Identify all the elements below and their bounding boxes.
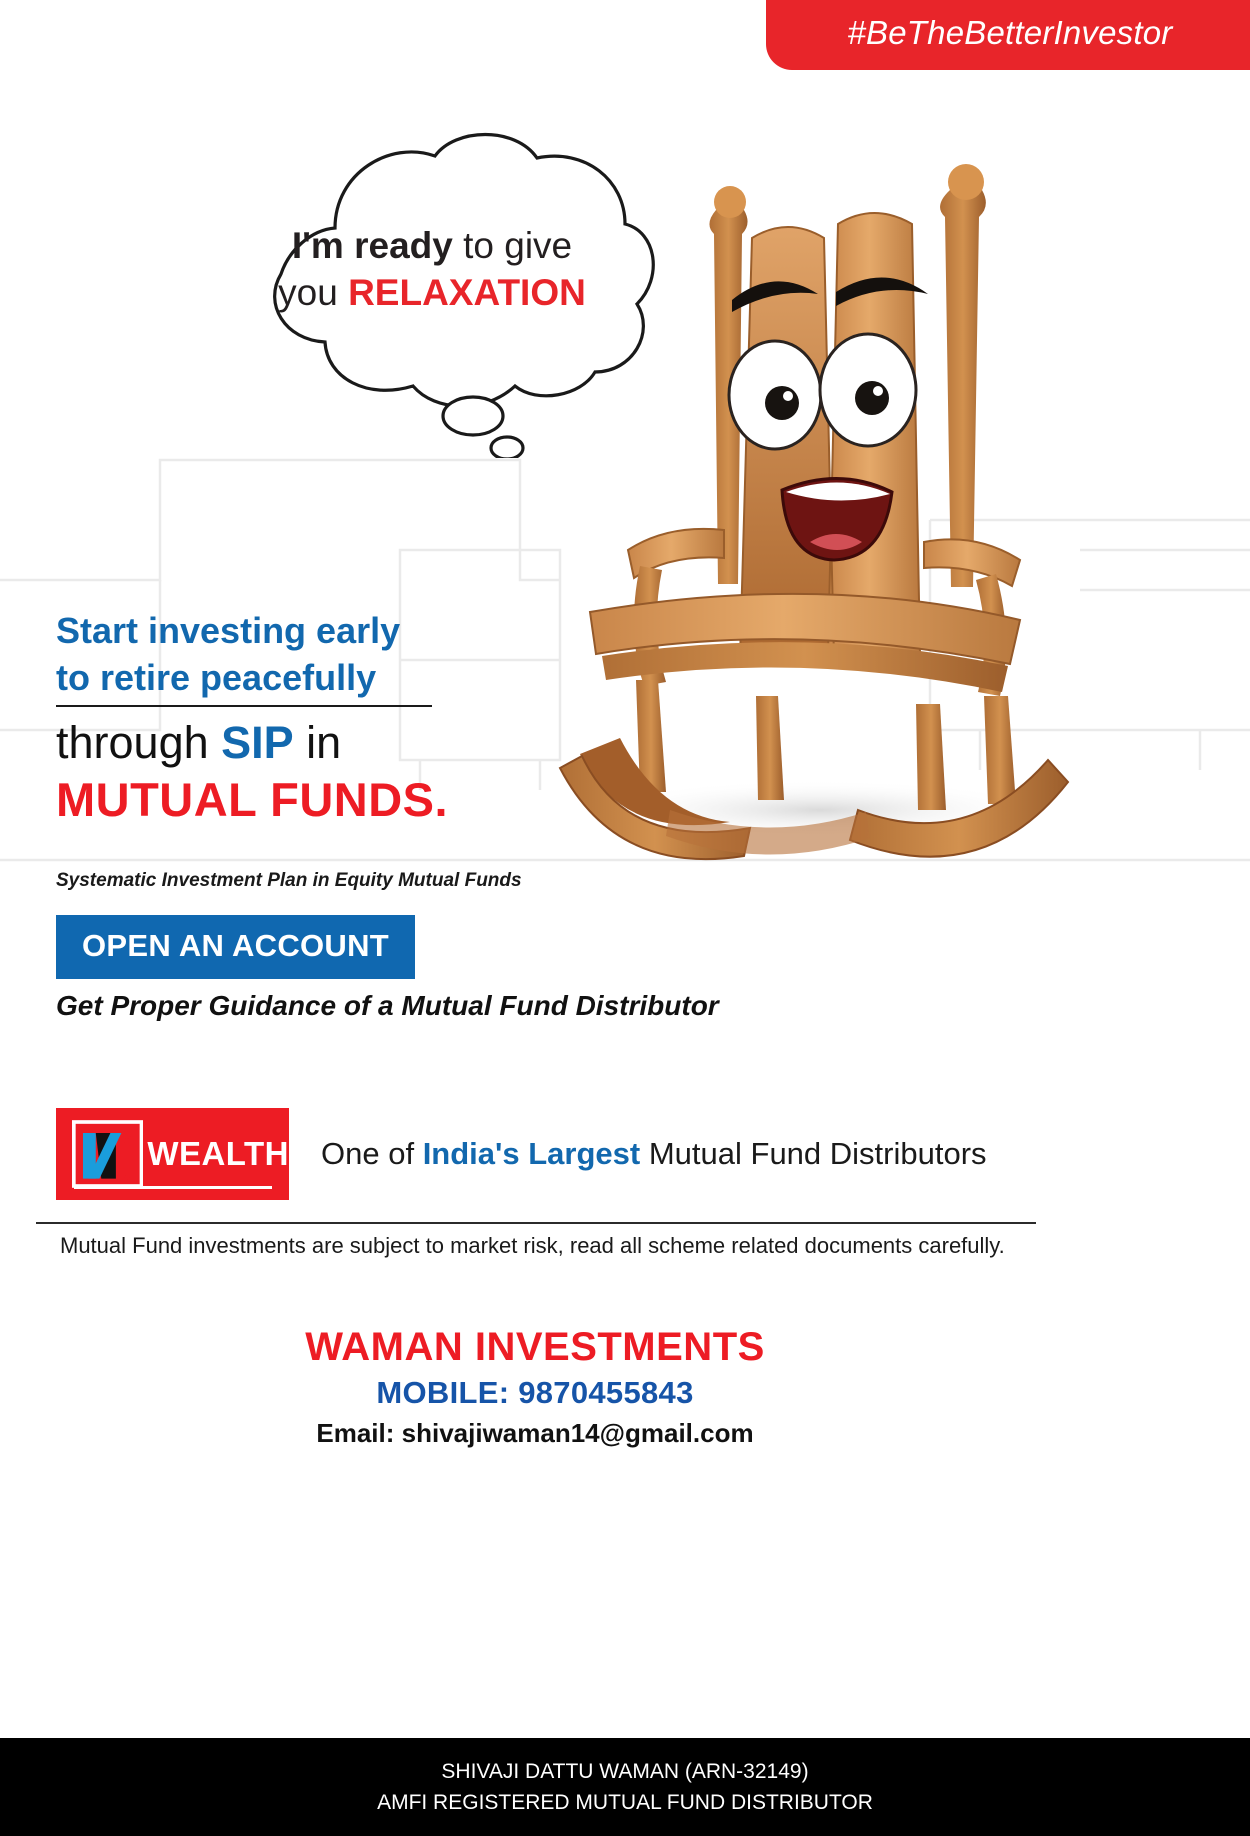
headline-black: through SIP in (56, 716, 576, 771)
hashtag-text: #BeTheBetterInvestor (847, 14, 1172, 52)
company-name: WAMAN INVESTMENTS (0, 1325, 1070, 1369)
nj-wealth-word: WEALTH (147, 1135, 289, 1173)
bubble-line1-rest: to give (453, 225, 572, 266)
bubble-line2-rest: you (278, 272, 348, 313)
headline-red: MUTUAL FUNDS. (56, 772, 448, 827)
open-an-account-button[interactable]: OPEN AN ACCOUNT (56, 915, 415, 979)
nj-tagline-pre: One of (321, 1136, 423, 1171)
disclaimer-divider (36, 1222, 1036, 1224)
bubble-line1-bold: I'm ready (292, 225, 453, 266)
nj-logo-underline (74, 1186, 272, 1189)
footer-inner: SHIVAJI DATTU WAMAN (ARN-32149) AMFI REG… (90, 1756, 1160, 1819)
nj-wealth-logo: WEALTH (56, 1108, 289, 1200)
headline-sip: SIP (221, 717, 294, 768)
bubble-line2-highlight: RELAXATION (348, 272, 586, 313)
headline-divider (56, 705, 432, 707)
headline-blue-line1: Start investing early (56, 610, 400, 651)
headline-blue-line2: to retire peacefully (56, 657, 376, 698)
footer-line-2: AMFI REGISTERED MUTUAL FUND DISTRIBUTOR (90, 1787, 1160, 1819)
thought-bubble: I'm ready to give you RELAXATION (185, 128, 665, 458)
guidance-text: Get Proper Guidance of a Mutual Fund Dis… (56, 990, 719, 1022)
contact-email[interactable]: Email: shivajiwaman14@gmail.com (0, 1419, 1070, 1449)
headline-black-pre: through (56, 717, 221, 768)
hashtag-banner: #BeTheBetterInvestor (766, 0, 1250, 70)
nj-tagline-post: Mutual Fund Distributors (640, 1136, 986, 1171)
footer-bar: SHIVAJI DATTU WAMAN (ARN-32149) AMFI REG… (0, 1738, 1250, 1836)
thought-bubble-text: I'm ready to give you RELAXATION (257, 223, 607, 316)
disclaimer-text: Mutual Fund investments are subject to m… (60, 1233, 1005, 1259)
headline-blue: Start investing early to retire peaceful… (56, 608, 476, 702)
subline-text: Systematic Investment Plan in Equity Mut… (56, 870, 522, 892)
nj-brand-mark-icon (72, 1117, 143, 1191)
nj-tagline: One of India's Largest Mutual Fund Distr… (321, 1136, 987, 1172)
nj-tagline-highlight: India's Largest (423, 1136, 641, 1171)
headline-black-post: in (294, 717, 342, 768)
nj-wealth-row: WEALTH One of India's Largest Mutual Fun… (56, 1108, 987, 1200)
contact-block: WAMAN INVESTMENTS MOBILE: 9870455843 Ema… (0, 1325, 1070, 1449)
footer-line-1: SHIVAJI DATTU WAMAN (ARN-32149) (90, 1756, 1160, 1788)
poster-canvas: #BeTheBetterInvestor I'm ready to give y… (0, 0, 1250, 1836)
contact-mobile[interactable]: MOBILE: 9870455843 (0, 1375, 1070, 1411)
